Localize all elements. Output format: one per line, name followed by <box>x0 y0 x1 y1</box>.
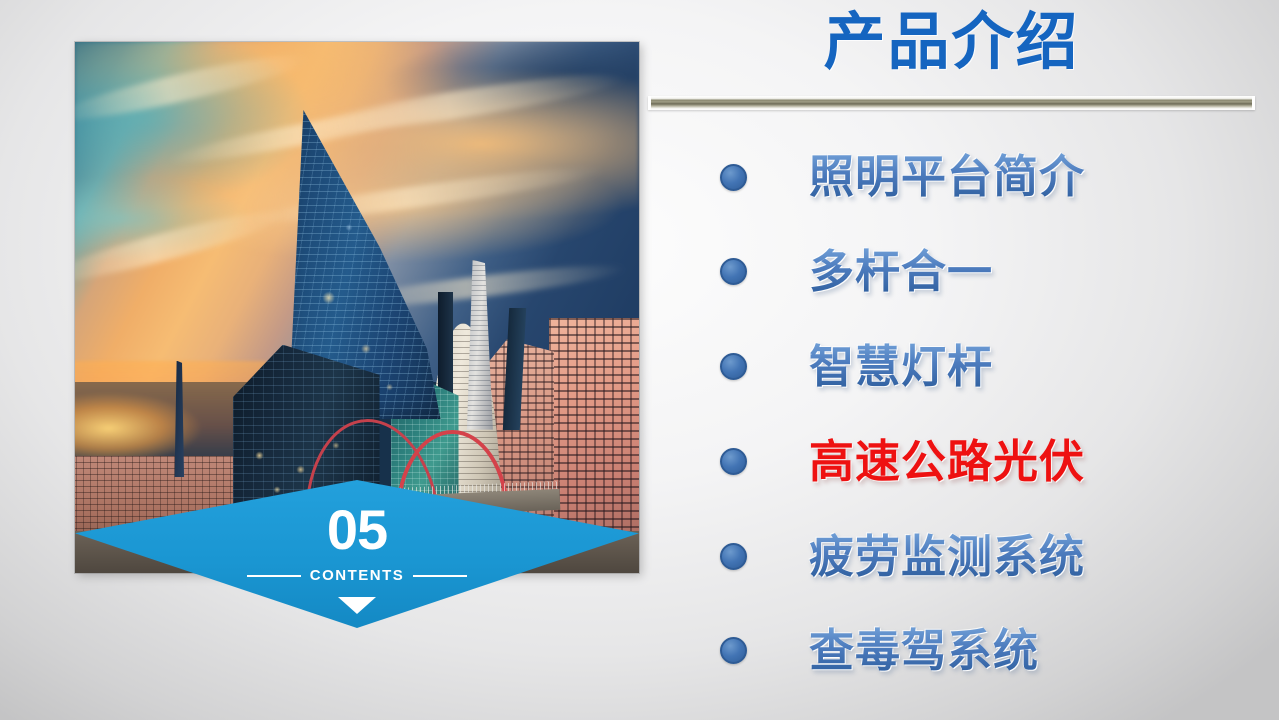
list-item-label: 智慧灯杆 <box>809 343 993 390</box>
bullet-dot-icon <box>720 164 747 191</box>
rule-left <box>247 575 301 577</box>
list-item-label: 高速公路光伏 <box>809 438 1085 485</box>
contents-bullet-list: 照明平台简介 多杆合一 智慧灯杆 高速公路光伏 疲劳监测系统 查毒驾系统 <box>648 128 1268 698</box>
list-item[interactable]: 查毒驾系统 <box>648 616 1268 686</box>
bullet-dot-icon <box>720 258 747 285</box>
title-divider <box>648 96 1255 110</box>
rule-right <box>413 575 467 577</box>
page-title: 产品介绍 <box>648 4 1255 82</box>
bullet-dot-icon <box>720 448 747 475</box>
salmon-tower-windows <box>549 318 639 546</box>
list-item-label: 照明平台简介 <box>809 153 1085 200</box>
list-item-label: 查毒驾系统 <box>809 627 1039 674</box>
list-item-label: 疲劳监测系统 <box>809 533 1085 580</box>
bullet-dot-icon <box>720 353 747 380</box>
cityscape-photo <box>75 42 639 573</box>
list-item[interactable]: 高速公路光伏 <box>648 426 1268 496</box>
list-item-label: 多杆合一 <box>809 248 993 295</box>
ground-plane <box>75 531 639 573</box>
list-item[interactable]: 疲劳监测系统 <box>648 521 1268 591</box>
bullet-dot-icon <box>720 637 747 664</box>
caret-down-icon <box>338 597 376 614</box>
bullet-dot-icon <box>720 543 747 570</box>
list-item[interactable]: 智慧灯杆 <box>648 332 1268 402</box>
list-item[interactable]: 照明平台简介 <box>648 142 1268 212</box>
list-item[interactable]: 多杆合一 <box>648 237 1268 307</box>
